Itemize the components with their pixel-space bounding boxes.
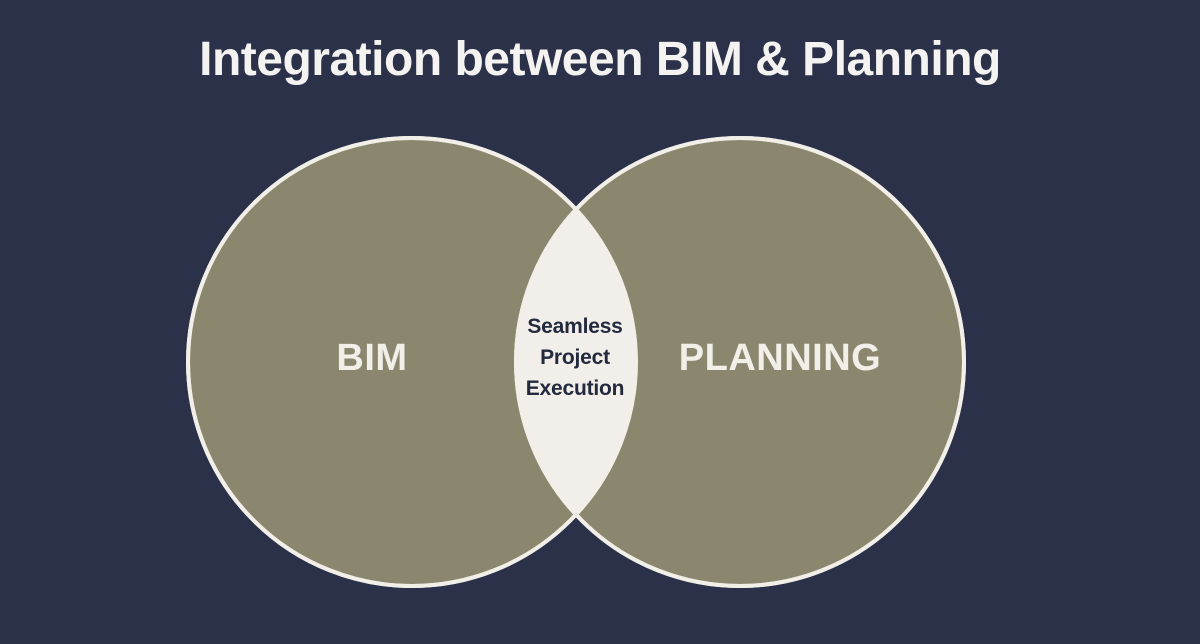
venn-diagram: BIM PLANNING Seamless Project Execution <box>0 0 1200 644</box>
venn-diagram-svg <box>0 0 1200 644</box>
slide-canvas: Integration between BIM & Planning BIM P… <box>0 0 1200 644</box>
